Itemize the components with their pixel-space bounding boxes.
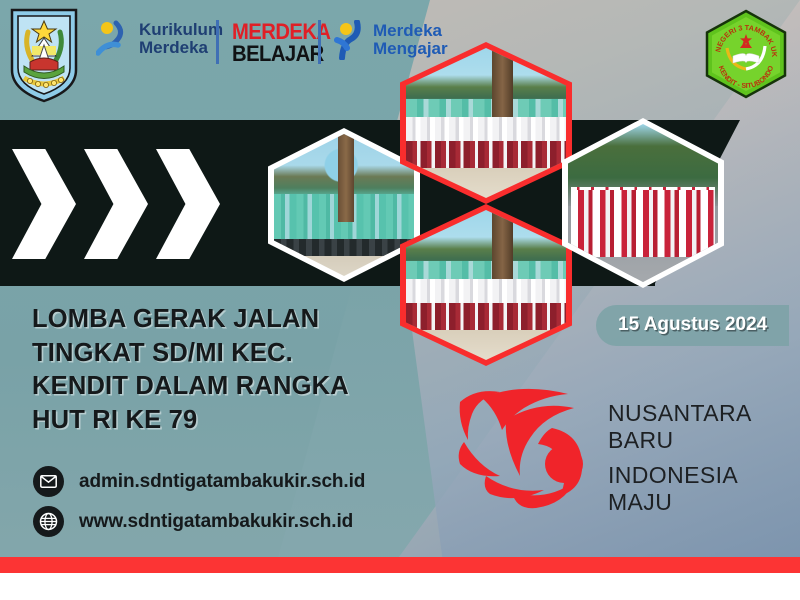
event-date-badge: 15 Agustus 2024: [596, 305, 789, 346]
poster-title: LOMBA GERAK JALAN TINGKAT SD/MI KEC. KEN…: [32, 303, 427, 438]
mm-line1: Merdeka: [373, 22, 448, 40]
tagline-line-3: INDONESIA: [608, 462, 752, 489]
title-line-2: TINGKAT SD/MI KEC.: [32, 337, 427, 371]
globe-icon: [33, 506, 64, 537]
kurikulum-merdeka-label: Kurikulum Merdeka: [139, 21, 223, 57]
mb-line1: MERDEKA: [232, 21, 330, 43]
tagline-line-2: BARU: [608, 427, 752, 454]
tagline-line-1: NUSANTARA: [608, 400, 752, 427]
east-java-provincial-emblem: [8, 4, 80, 104]
mm-line2: Mengajar: [373, 40, 448, 58]
bottom-red-bar: [0, 557, 800, 573]
title-line-4: HUT RI KE 79: [32, 404, 427, 438]
title-line-3: KENDIT DALAM RANGKA: [32, 370, 427, 404]
merdeka-mengajar-icon: [333, 20, 365, 60]
chevron-arrow-group: [12, 148, 227, 260]
contact-email-row: admin.sdntigatambakukir.sch.id: [33, 466, 365, 497]
email-address[interactable]: admin.sdntigatambakukir.sch.id: [79, 471, 365, 493]
sd-negeri-3-tambak-ukir-logo: SD NEGERI 3 TAMBAK UKIR KENDIT - SITUBON…: [700, 8, 792, 100]
logo-merdeka-mengajar: Merdeka Mengajar: [333, 20, 448, 60]
contact-website-row: www.sdntigatambakukir.sch.id: [33, 506, 353, 537]
logo-merdeka-belajar: MERDEKA BELAJAR: [232, 21, 339, 65]
logo-divider-1: [216, 20, 219, 64]
chevron-right-icon: [12, 149, 76, 259]
envelope-icon: [33, 466, 64, 497]
hut-ri-79-tagline: NUSANTARA BARU INDONESIA MAJU: [608, 400, 752, 516]
merdeka-mengajar-label: Merdeka Mengajar: [373, 22, 448, 58]
hut-ri-79-logo: [452, 380, 602, 515]
logo-divider-2: [318, 20, 321, 64]
poster-canvas: Kurikulum Merdeka MERDEKA BELAJAR Merdek…: [0, 0, 800, 600]
kurikulum-merdeka-icon: [96, 20, 130, 58]
chevron-right-icon: [84, 149, 148, 259]
chevron-right-icon: [156, 149, 220, 259]
km-line2: Merdeka: [139, 39, 223, 57]
mb-line2: BELAJAR: [232, 43, 330, 65]
km-line1: Kurikulum: [139, 21, 223, 39]
bottom-white-bar: [0, 573, 800, 600]
tagline-line-4: MAJU: [608, 489, 752, 516]
logo-kurikulum-merdeka: Kurikulum Merdeka: [96, 20, 223, 58]
website-address[interactable]: www.sdntigatambakukir.sch.id: [79, 511, 353, 533]
title-line-1: LOMBA GERAK JALAN: [32, 303, 427, 337]
